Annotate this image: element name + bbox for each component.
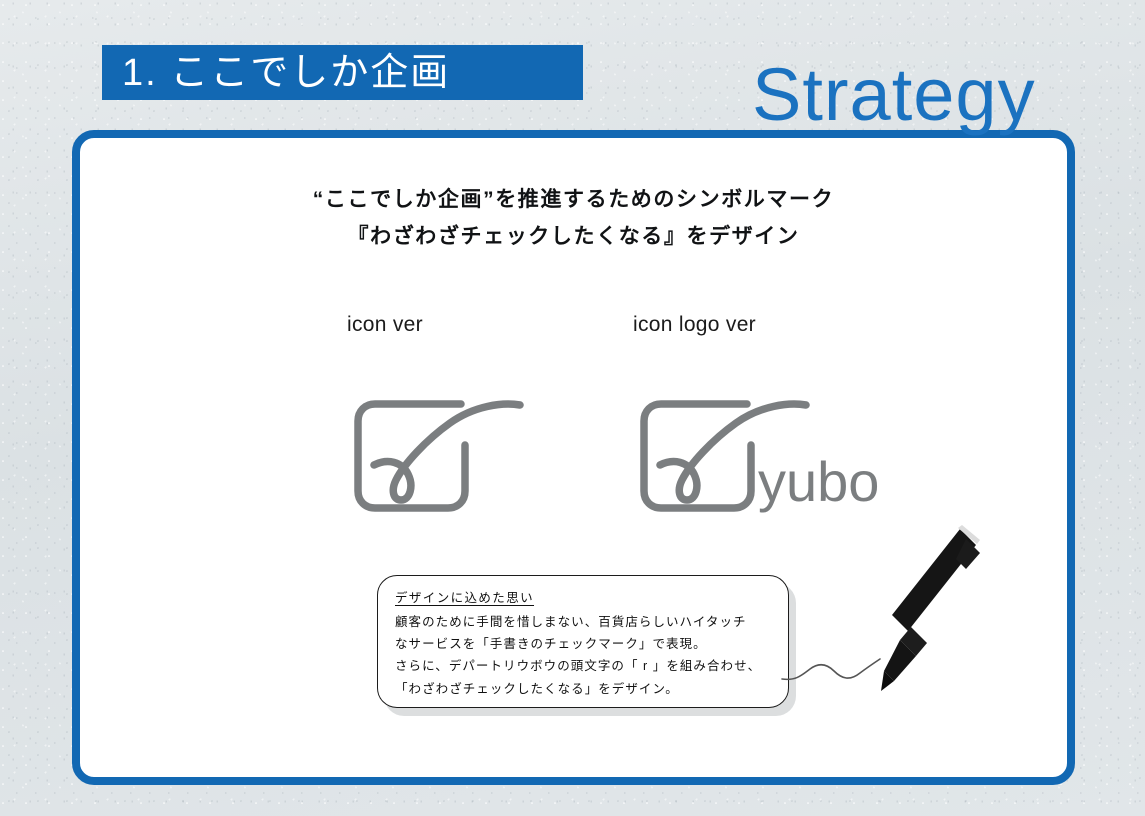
- section-title-banner: 1. ここでしか企画: [102, 45, 583, 100]
- symbol-wordmark-text: yubo: [758, 450, 879, 513]
- pen-illustration: [780, 523, 1010, 718]
- callout-title: デザインに込めた思い: [395, 589, 772, 608]
- headline: “ここでしか企画”を推進するためのシンボルマーク 『わざわざチェックしたくなる』…: [80, 182, 1067, 256]
- callout-line-4: 「わざわざチェックしたくなる」をデザイン。: [395, 678, 772, 700]
- headline-line-2: 『わざわざチェックしたくなる』をデザイン: [80, 219, 1067, 256]
- callout-line-2: なサービスを「手書きのチェックマーク」で表現。: [395, 633, 772, 655]
- content-card: “ここでしか企画”を推進するためのシンボルマーク 『わざわざチェックしたくなる』…: [72, 130, 1075, 785]
- section-keyword-strategy: Strategy: [752, 58, 1036, 132]
- symbol-mark-icon-logo: yubo: [630, 388, 930, 533]
- callout-line-1: 顧客のために手間を惜しまない、百貨店らしいハイタッチ: [395, 611, 772, 633]
- icon-logo-ver-label: icon logo ver: [633, 313, 756, 337]
- callout-body: 顧客のために手間を惜しまない、百貨店らしいハイタッチ なサービスを「手書きのチェ…: [395, 611, 772, 700]
- callout-line-3: さらに、デパートリウボウの頭文字の「 r 」を組み合わせ、: [395, 655, 772, 677]
- headline-line-1: “ここでしか企画”を推進するためのシンボルマーク: [80, 182, 1067, 219]
- design-concept-callout: デザインに込めた思い 顧客のために手間を惜しまない、百貨店らしいハイタッチ なサ…: [377, 575, 789, 708]
- pen-icon: [881, 525, 980, 691]
- section-title-text: 1. ここでしか企画: [102, 54, 450, 92]
- handwritten-line-icon: [782, 659, 880, 679]
- symbol-mark-icon: [344, 388, 534, 533]
- icon-ver-label: icon ver: [347, 313, 423, 337]
